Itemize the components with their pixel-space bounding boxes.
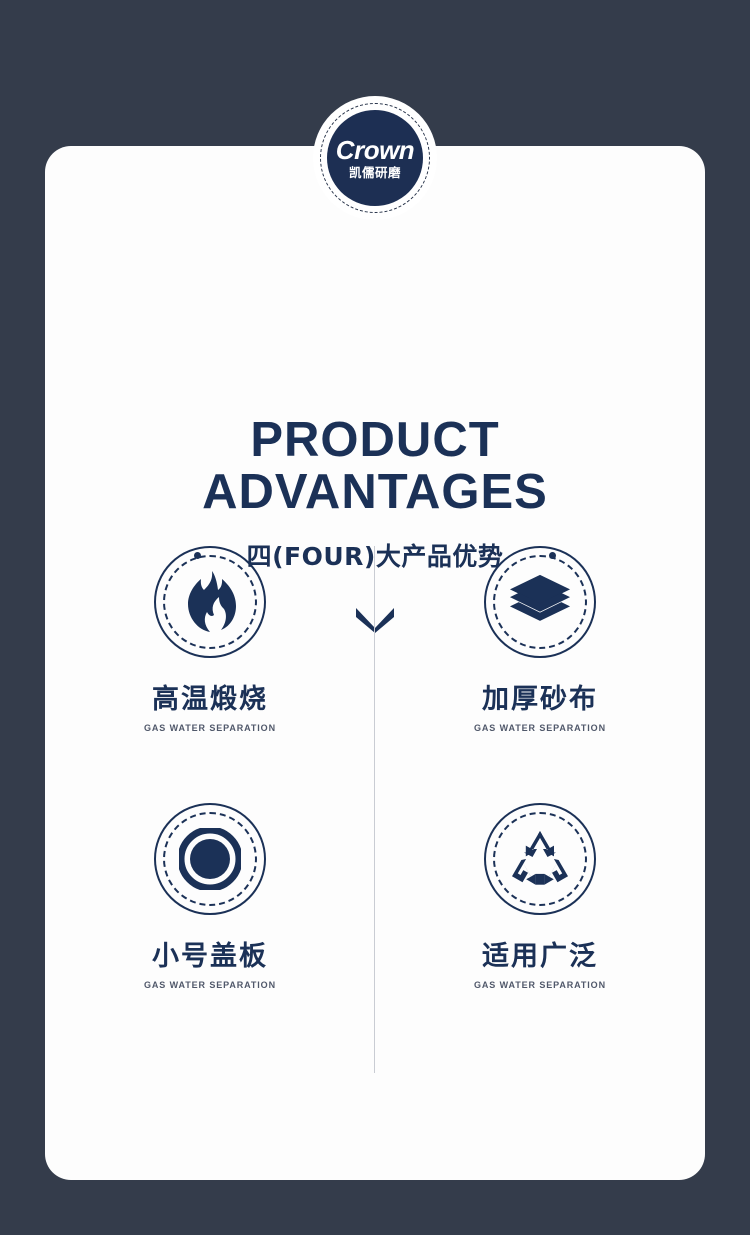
feature-caption-4: GAS WATER SEPARATION xyxy=(474,981,606,990)
feature-icon-ring-3 xyxy=(154,803,266,915)
feature-caption-3: GAS WATER SEPARATION xyxy=(144,981,276,990)
logo-inner-disc: Crown 凯儒研磨 xyxy=(327,110,423,206)
feature-item-2: 加厚砂布 GAS WATER SEPARATION xyxy=(375,546,705,803)
logo-wordmark: Crown xyxy=(336,137,414,163)
ring-disc-icon xyxy=(179,828,241,890)
feature-icon-ring-2 xyxy=(484,546,596,658)
flame-icon xyxy=(179,571,241,633)
feature-icon-ring-1 xyxy=(154,546,266,658)
feature-item-3: 小号盖板 GAS WATER SEPARATION xyxy=(45,803,375,1060)
feature-title-1: 高温煅烧 xyxy=(152,686,268,713)
poster-card: PRODUCT ADVANTAGES 四(FOUR)大产品优势 高温煅烧 GAS… xyxy=(45,146,705,1180)
feature-item-1: 高温煅烧 GAS WATER SEPARATION xyxy=(45,546,375,803)
feature-caption-2: GAS WATER SEPARATION xyxy=(474,724,606,733)
feature-title-2: 加厚砂布 xyxy=(482,686,598,713)
feature-title-3: 小号盖板 xyxy=(152,943,268,970)
feature-grid: 高温煅烧 GAS WATER SEPARATION 加厚砂布 GAS WATER… xyxy=(45,546,705,1060)
brand-logo-badge: Crown 凯儒研磨 xyxy=(313,96,437,220)
feature-title-4: 适用广泛 xyxy=(482,943,598,970)
headline-line-2: ADVANTAGES xyxy=(45,466,705,518)
feature-item-4: 适用广泛 GAS WATER SEPARATION xyxy=(375,803,705,1060)
recycle-icon xyxy=(509,828,571,890)
headline-line-1: PRODUCT xyxy=(45,414,705,466)
layers-stack-icon xyxy=(509,571,571,633)
page-title: PRODUCT ADVANTAGES xyxy=(45,414,705,518)
feature-icon-ring-4 xyxy=(484,803,596,915)
feature-caption-1: GAS WATER SEPARATION xyxy=(144,724,276,733)
logo-subtitle-cn: 凯儒研磨 xyxy=(349,167,401,180)
